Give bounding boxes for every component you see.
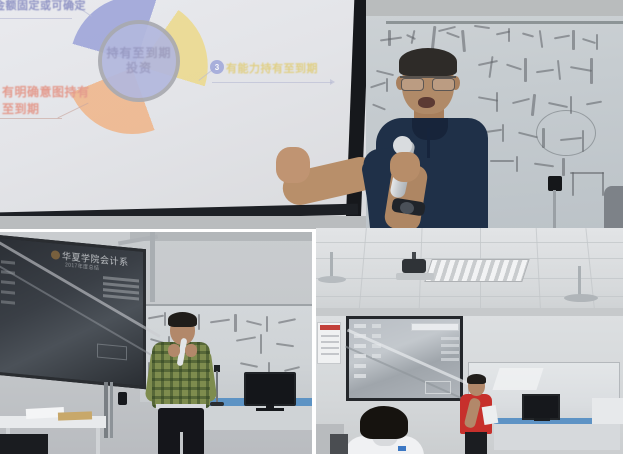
projector-mount-plate <box>396 273 434 280</box>
lecturer-mouth <box>418 97 435 108</box>
presenter-figure-bl <box>152 314 212 454</box>
monitor-base-bl <box>256 408 284 411</box>
seated-student-foreground <box>346 406 422 454</box>
desktop-title-bar <box>411 323 459 331</box>
speaker-hair-br <box>467 374 486 384</box>
wall-poster <box>317 322 341 364</box>
poster-header-band <box>320 325 340 330</box>
lecturer-hair <box>399 48 457 76</box>
student-badge <box>398 446 406 451</box>
ceiling-pipe-vertical <box>150 232 155 302</box>
presenter-leg-gap <box>180 432 183 454</box>
wall-above-whiteboard <box>366 0 623 16</box>
foreground-equipment-dark <box>330 434 348 454</box>
microphone-stand-pole <box>216 371 218 403</box>
speaker-in-red-shirt <box>459 376 493 454</box>
whiteboard-rail <box>386 21 623 24</box>
lecturer-placket <box>427 128 430 158</box>
presenter-hand-left <box>168 344 180 357</box>
desktop-monitor-br <box>522 394 560 420</box>
desktop-right-panel <box>441 337 459 367</box>
slide-side-column <box>1 260 15 319</box>
foreground-shadow-bl <box>0 434 48 454</box>
photo-panel-bottom-right <box>316 228 623 454</box>
photo-collage: 持有至到期投资 金额固定或可确定 有明确意图持有至到期 3 有能力持有至到期 <box>0 0 623 454</box>
monitor-base-br <box>534 418 550 421</box>
lecturer-fist <box>276 147 310 183</box>
whiteboard-glare <box>492 368 543 390</box>
slide-callout-badge-3: 3 <box>210 60 224 74</box>
wall-device-box <box>118 392 127 405</box>
lecturer-figure-top <box>372 52 502 229</box>
desk-body-br <box>494 424 620 450</box>
screen-support-pole-right <box>110 382 113 438</box>
student-head <box>360 406 408 439</box>
side-cabinet <box>592 398 623 424</box>
tripod-stand <box>553 190 556 229</box>
donut-center-label: 持有至到期投资 <box>102 46 176 76</box>
lecturer-hand <box>390 152 420 182</box>
ceiling-fan-left-pole <box>330 252 333 278</box>
fluorescent-light <box>424 259 529 282</box>
slide-callout-right: 有能力持有至到期 <box>226 60 318 76</box>
ceiling-projector <box>402 259 426 273</box>
desktop-icon-column <box>354 324 380 386</box>
callout-leader-line-top <box>0 18 72 19</box>
slide-callout-top: 金额固定或可确定 <box>0 0 86 13</box>
projection-screen-br <box>346 316 463 401</box>
projection-screen-bl: 华夏学院会计系 2017年度总结 <box>0 235 146 389</box>
partial-person-right-edge <box>604 186 623 229</box>
callout-arrowhead-icon <box>330 79 335 85</box>
wall-below-screen <box>0 216 366 229</box>
desktop-monitor-bl <box>244 372 296 406</box>
desktop-window-box <box>425 381 451 394</box>
eyeglasses-icon <box>400 76 456 86</box>
photo-panel-top: 持有至到期投资 金额固定或可确定 有明确意图持有至到期 3 有能力持有至到期 <box>0 0 623 229</box>
table-leg-right <box>96 428 100 454</box>
ceiling-fan-left <box>318 276 346 283</box>
slide-logo-icon <box>51 250 60 260</box>
ceiling-fan-right <box>564 294 598 302</box>
camera-head-icon <box>548 176 562 191</box>
slide-callout-box <box>97 344 127 361</box>
speaker-legs-br <box>465 432 487 454</box>
ceiling-fan-right-pole <box>578 266 581 296</box>
slide-text-rows <box>103 276 139 303</box>
papers-in-hand <box>482 405 499 425</box>
screen-support-pole-left <box>104 382 108 438</box>
microphone-stand-base <box>210 402 224 406</box>
donut-center: 持有至到期投资 <box>98 20 180 102</box>
slide-callout-left: 有明确意图持有至到期 <box>2 84 92 119</box>
presenter-hand-right <box>185 344 197 357</box>
callout-leader-line-right <box>212 82 332 83</box>
lecturer-collar <box>412 118 448 140</box>
photo-panel-bottom-left: 华夏学院会计系 2017年度总结 <box>0 232 312 454</box>
folder-on-table <box>58 411 92 420</box>
presenter-hair <box>168 312 197 327</box>
